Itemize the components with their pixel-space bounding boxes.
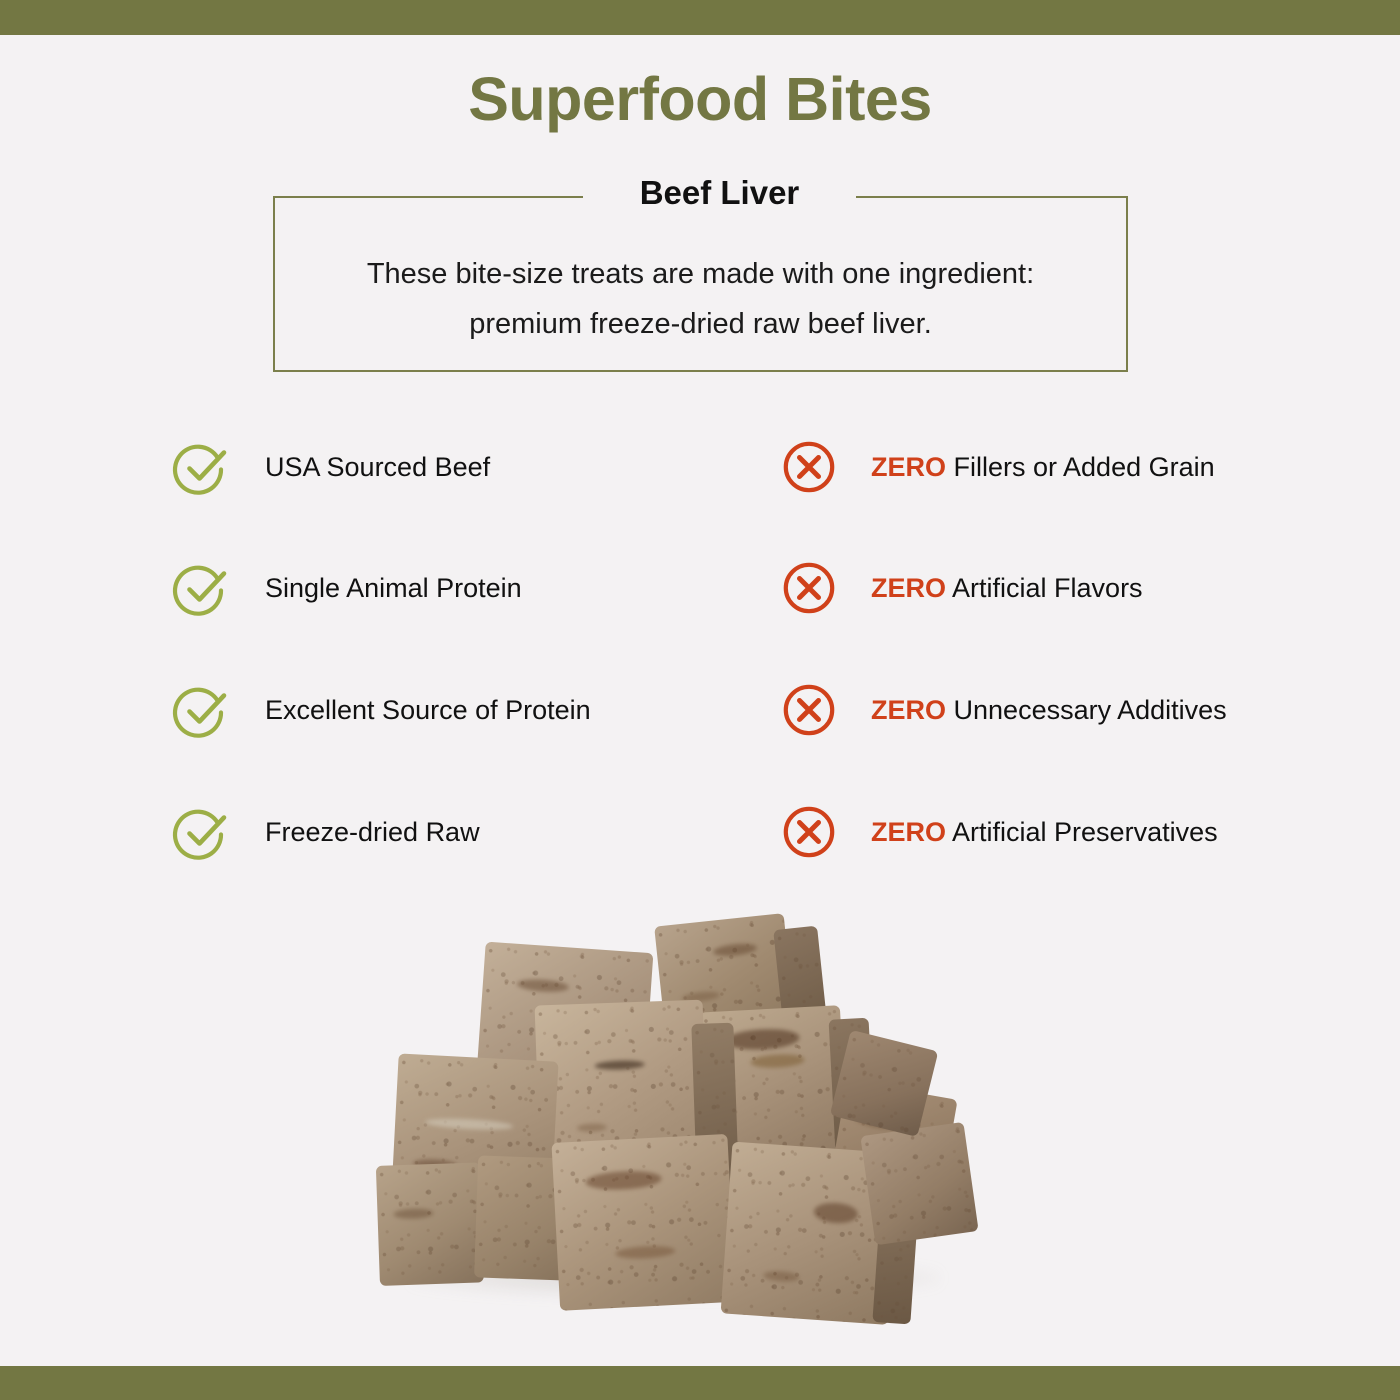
benefit-label: Single Animal Protein [265, 575, 522, 602]
x-circle-icon [778, 801, 840, 863]
benefits-section: USA Sourced Beef Single Animal Protein [0, 423, 1400, 893]
check-circle-icon [172, 679, 234, 741]
benefit-label: ZERO Fillers or Added Grain [871, 454, 1215, 481]
product-name-heading: Beef Liver [583, 175, 856, 211]
benefit-label-text: Fillers or Added Grain [946, 452, 1215, 482]
liver-cube [551, 1133, 750, 1321]
benefit-label: Excellent Source of Protein [265, 697, 591, 724]
benefit-row: ZERO Fillers or Added Grain [778, 436, 1215, 498]
benefit-label-text: Artificial Flavors [946, 573, 1143, 603]
check-circle-icon [172, 436, 234, 498]
benefit-label: ZERO Unnecessary Additives [871, 697, 1227, 724]
benefit-row: Excellent Source of Protein [172, 679, 591, 741]
check-circle-icon [172, 557, 234, 619]
zero-emphasis: ZERO [871, 695, 946, 725]
zero-emphasis: ZERO [871, 817, 946, 847]
benefit-label: USA Sourced Beef [265, 454, 490, 481]
benefit-label: ZERO Artificial Preservatives [871, 819, 1218, 846]
benefit-row: USA Sourced Beef [172, 436, 490, 498]
x-circle-icon [778, 679, 840, 741]
liver-cube [860, 1121, 987, 1253]
benefit-label: ZERO Artificial Flavors [871, 575, 1143, 602]
benefit-row: Single Animal Protein [172, 557, 522, 619]
description-text: These bite-size treats are made with one… [293, 250, 1108, 350]
description-line-2: premium freeze-dried raw beef liver. [293, 300, 1108, 350]
x-circle-icon [778, 557, 840, 619]
check-circle-icon [172, 801, 234, 863]
benefit-row: ZERO Artificial Flavors [778, 557, 1143, 619]
zero-emphasis: ZERO [871, 573, 946, 603]
product-photo [370, 890, 990, 1320]
benefit-label-text: Unnecessary Additives [946, 695, 1227, 725]
benefits-positive-column: USA Sourced Beef Single Animal Protein [172, 423, 732, 893]
zero-emphasis: ZERO [871, 452, 946, 482]
bottom-accent-band [0, 1366, 1400, 1400]
benefit-row: ZERO Artificial Preservatives [778, 801, 1218, 863]
benefit-label: Freeze-dried Raw [265, 819, 480, 846]
top-accent-band [0, 0, 1400, 35]
page-title: Superfood Bites [0, 69, 1400, 130]
description-line-1: These bite-size treats are made with one… [293, 250, 1108, 300]
content-stage: Superfood Bites Beef Liver These bite-si… [0, 35, 1400, 1366]
benefit-row: Freeze-dried Raw [172, 801, 480, 863]
x-circle-icon [778, 436, 840, 498]
benefit-label-text: Artificial Preservatives [946, 817, 1218, 847]
benefits-negative-column: ZERO Fillers or Added Grain ZERO Artific… [778, 423, 1358, 893]
benefit-row: ZERO Unnecessary Additives [778, 679, 1227, 741]
